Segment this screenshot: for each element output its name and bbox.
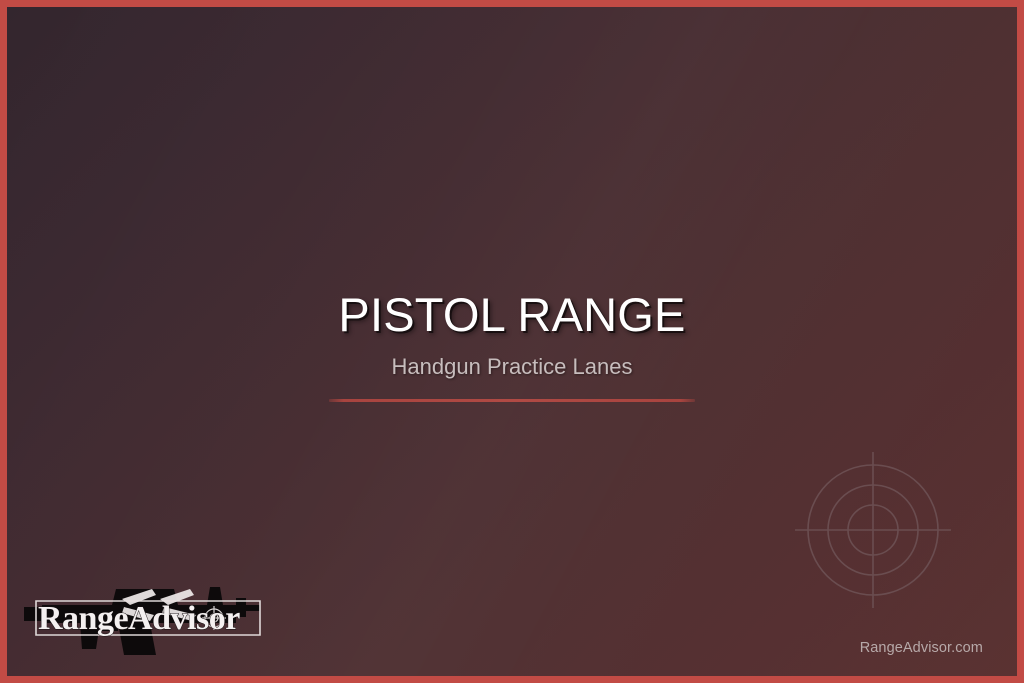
brand-logo: RangeAdvisor (24, 555, 274, 657)
page-title: PISTOL RANGE (7, 290, 1017, 340)
slide-canvas: PISTOL RANGE Handgun Practice Lanes (7, 7, 1017, 676)
crosshair-target-icon (773, 430, 973, 630)
presentation-slide: PISTOL RANGE Handgun Practice Lanes (0, 0, 1024, 683)
brand-wordmark: RangeAdvisor (38, 600, 240, 637)
title-block: PISTOL RANGE Handgun Practice Lanes (7, 290, 1017, 402)
page-subtitle: Handgun Practice Lanes (7, 354, 1017, 380)
title-divider (329, 399, 695, 402)
footer-url: RangeAdvisor.com (860, 640, 983, 656)
